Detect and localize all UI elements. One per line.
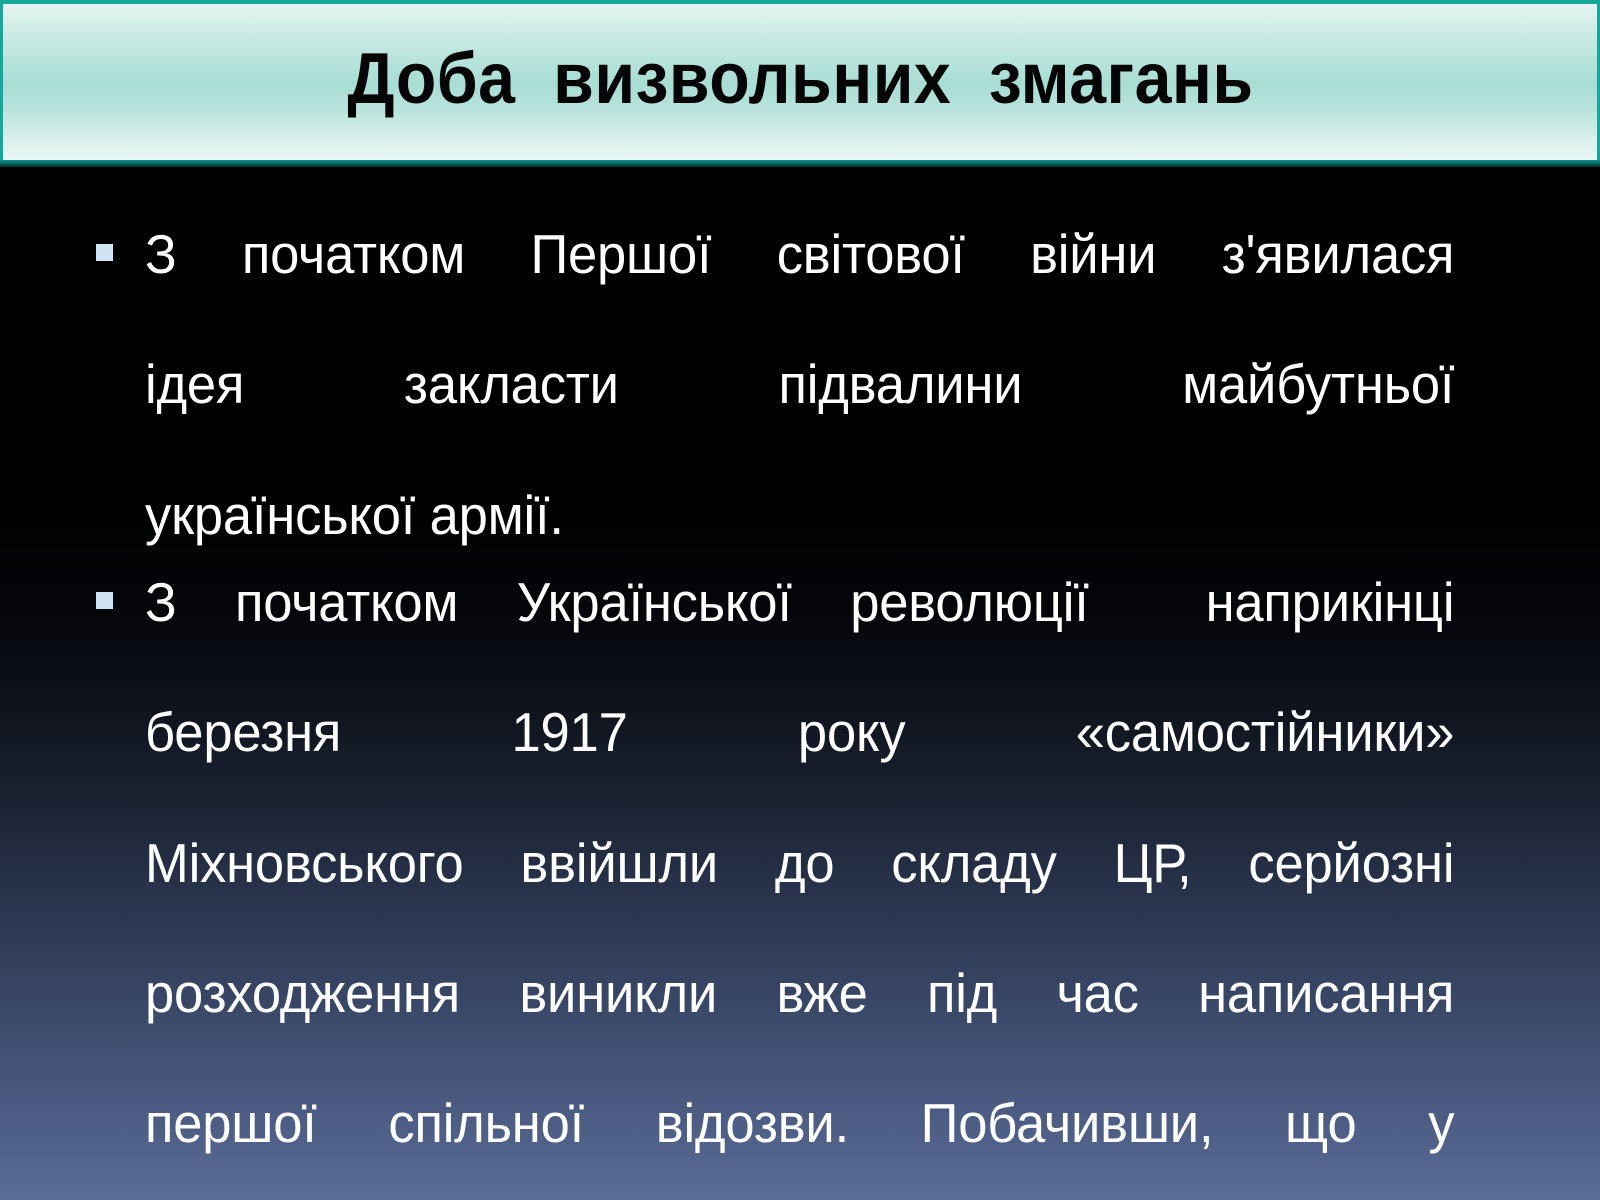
text-line: З початком Української революції наприкі…	[145, 570, 1454, 700]
text-line: ідея закласти підвалини майбутньої	[145, 352, 1454, 482]
page-title: Доба визвольних змагань	[347, 43, 1253, 121]
list-item: З початком Української революції наприкі…	[96, 570, 1516, 1200]
square-bullet-icon	[96, 244, 113, 261]
text-line: Міхновського ввійшли до складу ЦР, серйо…	[145, 831, 1454, 961]
slide-body: З початком Першої світової війни з'явила…	[96, 222, 1516, 1200]
title-underline-divider	[0, 160, 1600, 167]
list-item-text: З початком Першої світової війни з'явила…	[145, 222, 1454, 548]
title-band: Доба визвольних змагань	[0, 0, 1600, 160]
text-line: березня 1917 року «самостійники»	[145, 700, 1454, 830]
text-line: української армії.	[145, 483, 1454, 548]
text-line: розходження виникли вже під час написанн…	[145, 961, 1454, 1091]
text-line: першої спільної відозви. Побачивши, що у	[145, 1091, 1454, 1200]
text-line: З початком Першої світової війни з'явила…	[145, 222, 1454, 352]
list-item-text: З початком Української революції наприкі…	[145, 570, 1454, 1200]
list-item: З початком Першої світової війни з'явила…	[96, 222, 1516, 548]
slide: Доба визвольних змагань З початком Першо…	[0, 0, 1600, 1200]
square-bullet-icon	[96, 592, 113, 609]
